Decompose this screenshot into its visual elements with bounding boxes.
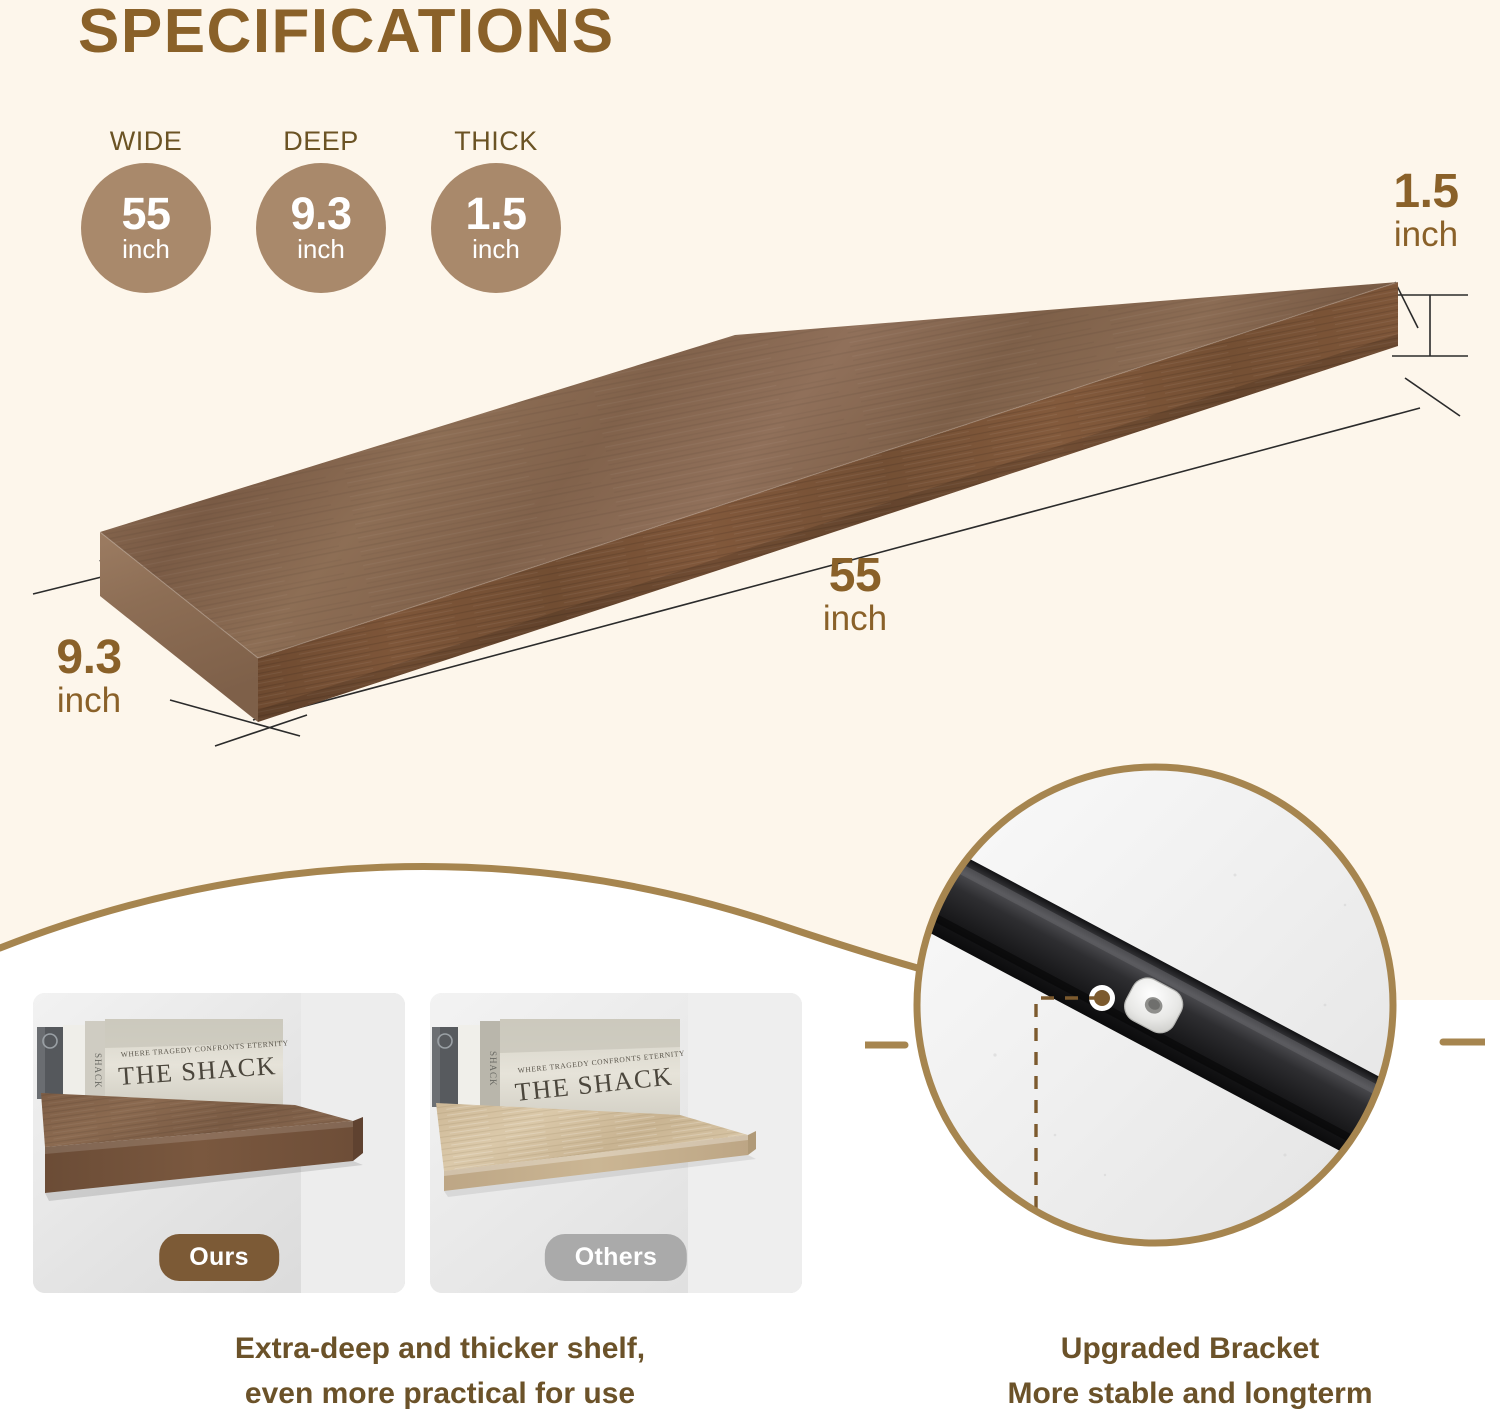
ring-connector-ticks [865, 750, 1485, 1270]
svg-text:SHACK: SHACK [93, 1053, 103, 1089]
dimension-label-width: 55 inch [760, 552, 950, 639]
dimension-unit: inch [1366, 216, 1486, 255]
bracket-caption-line-1: Upgraded Bracket [930, 1326, 1450, 1371]
comparison-caption-line-1: Extra-deep and thicker shelf, [90, 1326, 790, 1371]
comparison-caption: Extra-deep and thicker shelf, even more … [90, 1326, 790, 1416]
bracket-caption-line-2: More stable and longterm [930, 1371, 1450, 1416]
page-title: SPECIFICATIONS [78, 0, 615, 67]
dimension-unit: inch [14, 682, 164, 721]
comparison-pill-ours: Ours [159, 1234, 279, 1281]
comparison-card-others[interactable]: SHACK WHERE TRAGEDY CONFRONTS ETERNITY T… [430, 993, 802, 1293]
dimension-label-depth: 9.3 inch [14, 634, 164, 721]
dimension-value: 55 [760, 552, 950, 600]
svg-text:SHACK: SHACK [488, 1051, 498, 1087]
bracket-detail-inset [905, 755, 1405, 1255]
comparison-pill-others: Others [545, 1234, 687, 1281]
bracket-caption: Upgraded Bracket More stable and longter… [930, 1326, 1450, 1416]
comparison-caption-line-2: even more practical for use [90, 1371, 790, 1416]
dimension-unit: inch [760, 600, 950, 639]
dimension-value: 9.3 [14, 634, 164, 682]
comparison-card-ours[interactable]: SHACK WHERE TRAGEDY CONFRONTS ETERNITY T… [33, 993, 405, 1293]
shelf-isometric-illustration [0, 60, 1500, 780]
dimension-value: 1.5 [1366, 168, 1486, 216]
dimension-label-thickness: 1.5 inch [1366, 168, 1486, 255]
